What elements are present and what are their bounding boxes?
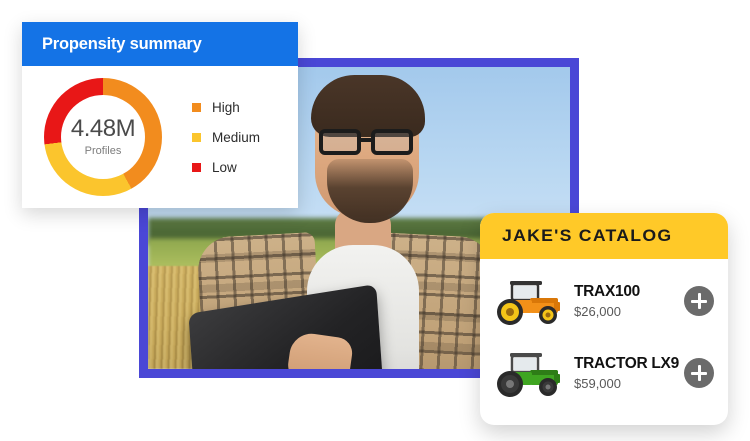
glasses-lens-left — [319, 129, 361, 155]
tractor-illustration — [490, 346, 568, 400]
legend-swatch-icon — [192, 163, 201, 172]
legend-item-low: Low — [192, 160, 260, 175]
donut-center: 4.48M Profiles — [61, 95, 145, 179]
catalog-item-list: TRAX100$26,000TRACTOR LX9$59,000 — [480, 259, 728, 409]
item-price: $26,000 — [574, 304, 684, 319]
propensity-card-body: 4.48M Profiles HighMediumLow — [22, 66, 298, 196]
donut-center-label: Profiles — [85, 145, 122, 157]
legend-item-high: High — [192, 100, 260, 115]
legend-label: Medium — [212, 130, 260, 145]
hair — [311, 75, 425, 137]
list-item[interactable]: TRAX100$26,000 — [480, 265, 728, 337]
plus-icon-button[interactable] — [684, 358, 714, 388]
item-price: $59,000 — [574, 376, 684, 391]
catalog-card: JAKE'S CATALOG TRAX100$26,000TRACTOR LX9… — [480, 213, 728, 425]
propensity-card-header: Propensity summary — [22, 22, 298, 66]
item-info: TRAX100$26,000 — [568, 283, 684, 319]
glasses-lens-right — [371, 129, 413, 155]
tractor-illustration — [490, 274, 568, 328]
chart-legend: HighMediumLow — [192, 100, 260, 175]
donut-chart: 4.48M Profiles — [44, 78, 162, 196]
composite-illustration: Propensity summary 4.48M Profiles HighMe… — [0, 0, 750, 441]
catalog-card-header: JAKE'S CATALOG — [480, 213, 728, 259]
glasses-icon — [319, 129, 423, 155]
item-info: TRACTOR LX9$59,000 — [568, 355, 684, 391]
donut-center-value: 4.48M — [71, 117, 135, 141]
legend-label: Low — [212, 160, 237, 175]
plus-icon-button[interactable] — [684, 286, 714, 316]
legend-swatch-icon — [192, 103, 201, 112]
propensity-summary-card: Propensity summary 4.48M Profiles HighMe… — [22, 22, 298, 208]
page-title: Propensity summary — [42, 35, 202, 54]
catalog-title: JAKE'S CATALOG — [502, 226, 672, 246]
orange-tractor-icon — [490, 274, 568, 328]
legend-label: High — [212, 100, 240, 115]
green-tractor-icon — [490, 346, 568, 400]
legend-item-medium: Medium — [192, 130, 260, 145]
legend-swatch-icon — [192, 133, 201, 142]
list-item[interactable]: TRACTOR LX9$59,000 — [480, 337, 728, 409]
item-name: TRACTOR LX9 — [574, 355, 684, 373]
item-name: TRAX100 — [574, 283, 684, 301]
